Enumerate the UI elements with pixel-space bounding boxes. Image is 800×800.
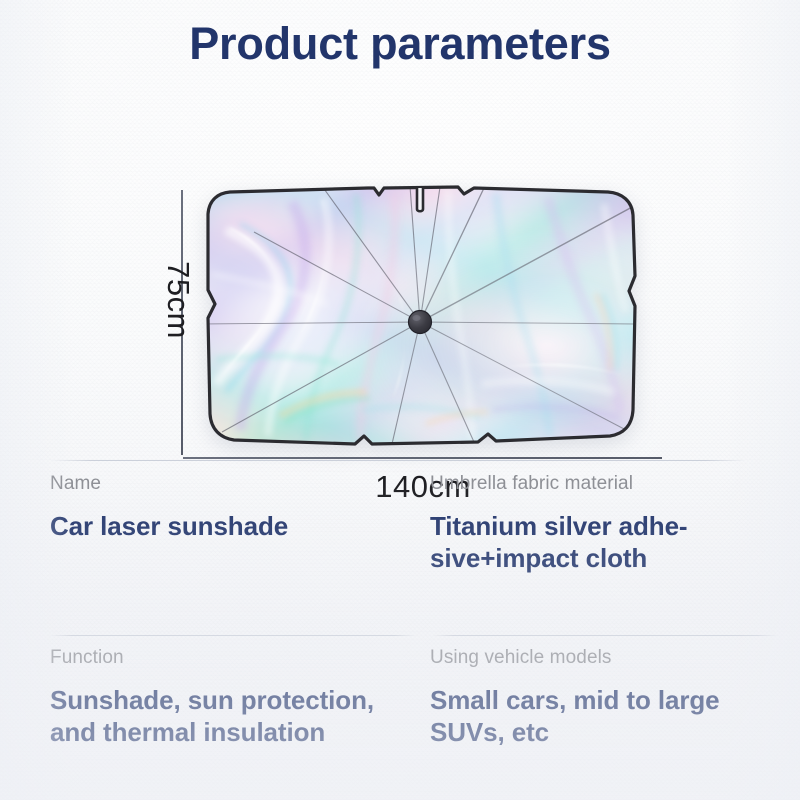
spec-label: Function <box>50 648 410 669</box>
row-divider <box>433 635 778 636</box>
product-figure: 75cm 140cm <box>0 86 800 426</box>
spec-cell-using-vehicle-models: Using vehicle models Small cars, mid to … <box>430 648 790 748</box>
umbrella-hub-icon <box>409 311 432 334</box>
rearview-mirror-notch-icon <box>417 188 423 211</box>
spec-cell-umbrella-fabric-material: Umbrella fabric material Titanium silver… <box>430 474 790 574</box>
spec-label: Using vehicle models <box>430 648 790 669</box>
spec-value: Small cars, mid to large SUVs, etc <box>430 685 790 748</box>
spec-value: Titanium silver adhe- sive+impact cloth <box>430 511 790 574</box>
spec-value: Car laser sunshade <box>50 511 410 543</box>
spec-value: Sunshade, sun protection, and thermal in… <box>50 685 410 748</box>
spec-table: Name Car laser sunshade Umbrella fabric … <box>0 452 800 800</box>
row-divider <box>50 460 747 461</box>
spec-cell-name: Name Car laser sunshade <box>50 474 410 543</box>
row-divider <box>50 635 416 636</box>
page-title: Product parameters <box>0 18 800 70</box>
product-parameters-infographic: Product parameters 75cm 140cm <box>0 0 800 800</box>
spec-label: Umbrella fabric material <box>430 474 790 495</box>
height-dimension-label: 75cm <box>160 240 196 360</box>
spec-cell-function: Function Sunshade, sun protection, and t… <box>50 648 410 748</box>
spec-label: Name <box>50 474 410 495</box>
sunshade-product-image <box>196 178 646 456</box>
